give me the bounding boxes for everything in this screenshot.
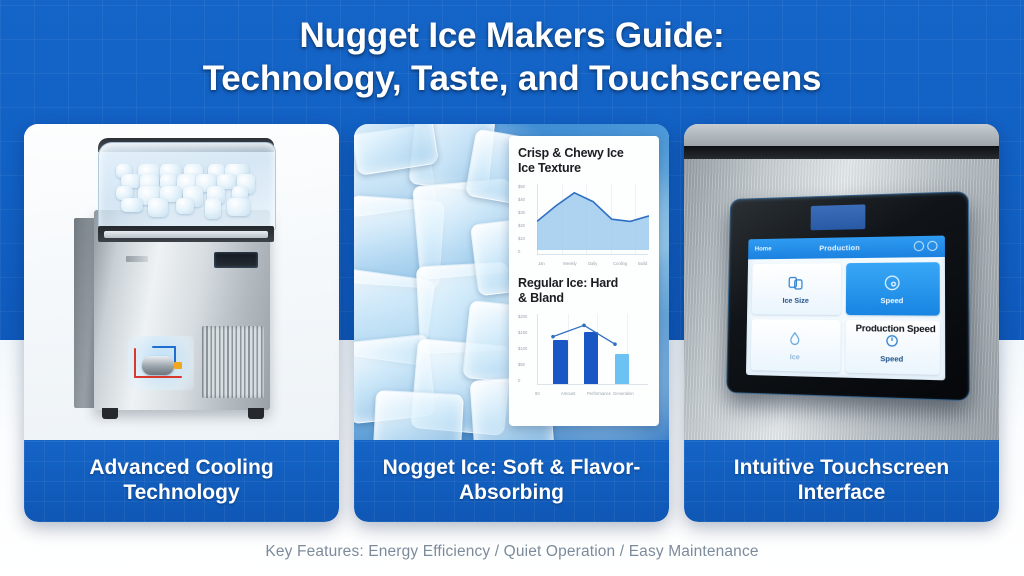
card-caption-touchscreen: Intuitive Touchscreen Interface bbox=[684, 440, 999, 522]
overlay-speed: Speed bbox=[852, 378, 934, 381]
x-tick-label: Amount bbox=[561, 391, 575, 396]
tile-label-speed-2: Speed bbox=[880, 354, 903, 364]
fan-dial-icon bbox=[882, 273, 902, 293]
ice-cube bbox=[148, 198, 168, 217]
tile-ice-size[interactable]: Ice Size bbox=[752, 263, 841, 315]
page-title-line-2: Technology, Taste, and Touchscreens bbox=[0, 57, 1024, 100]
poster-canvas: Nugget Ice Makers Guide: Technology, Tas… bbox=[0, 0, 1024, 576]
page-title-line-1: Nugget Ice Makers Guide: bbox=[299, 16, 724, 55]
card-caption-nugget-ice: Nogget Ice: Soft & Flavor-Absorbing bbox=[354, 440, 669, 522]
chart-heading-1: Crisp & Chewy Ice Ice Texture bbox=[518, 146, 650, 176]
hot-pipe-icon bbox=[134, 376, 182, 378]
ice-cube bbox=[372, 390, 464, 440]
condenser-vents bbox=[202, 326, 264, 398]
ice-cube-icon bbox=[786, 273, 805, 293]
tile-grid: Ice Size Speed Ice bbox=[751, 262, 940, 375]
y-tick-label: $50 bbox=[518, 362, 525, 367]
ice-maker-photo bbox=[24, 124, 339, 440]
x-tick-label: Generation bbox=[613, 391, 634, 396]
cold-pipe-top-icon bbox=[152, 346, 176, 348]
x-tick-label: Daily bbox=[588, 261, 597, 266]
chart-heading-2-line-2: & Bland bbox=[518, 291, 650, 306]
status-bar-title: Production bbox=[819, 243, 860, 253]
x-tick-label: Jan bbox=[538, 261, 545, 266]
y-tick-label: 0 bbox=[518, 249, 520, 254]
hot-pipe-riser-icon bbox=[134, 348, 136, 378]
tile-label-ice-size: Ice Size bbox=[782, 296, 808, 305]
card-advanced-cooling[interactable]: Advanced Cooling Technology bbox=[24, 124, 339, 522]
ice-maker-illustration bbox=[68, 138, 282, 430]
ice-cube bbox=[227, 198, 250, 216]
y-tick-label: $30 bbox=[518, 210, 525, 215]
ice-cube bbox=[205, 198, 221, 219]
chart-heading-1-line-1: Crisp & Chewy Ice bbox=[518, 146, 624, 160]
droplet-hand-icon bbox=[785, 329, 804, 349]
y-tick-label: $100 bbox=[518, 346, 527, 351]
footer-key-features: Key Features: Energy Efficiency / Quiet … bbox=[0, 543, 1024, 561]
page-title: Nugget Ice Makers Guide: Technology, Tas… bbox=[0, 14, 1024, 101]
chart-heading-2-line-1: Regular Ice: Hard bbox=[518, 276, 618, 290]
touchscreen-display[interactable]: Home Production Ice Size bbox=[746, 236, 945, 381]
brand-logo bbox=[126, 256, 148, 262]
chart-heading-1-line-2: Ice Texture bbox=[518, 161, 650, 176]
card-touchscreen[interactable]: Home Production Ice Size bbox=[684, 124, 999, 522]
machine-feet bbox=[98, 408, 274, 420]
y-tick-label: $40 bbox=[518, 197, 525, 202]
bar-chart: $200$150$100$50060AmountPerformanceGener… bbox=[518, 312, 650, 398]
touchscreen-bezel: Home Production Ice Size bbox=[726, 191, 970, 401]
chart-overlay-panel: Crisp & Chewy Ice Ice Texture $50$40$30$… bbox=[509, 136, 659, 426]
y-tick-label: $200 bbox=[518, 314, 527, 319]
machine-display bbox=[214, 252, 258, 268]
x-tick-label: Performance bbox=[587, 391, 611, 396]
power-icon bbox=[927, 241, 937, 251]
tile-label-speed: Speed bbox=[880, 296, 903, 305]
status-bar-icons bbox=[911, 241, 938, 253]
control-panel-photo: Home Production Ice Size bbox=[684, 124, 999, 440]
x-tick-label: 60 bbox=[535, 391, 540, 396]
ice-cube bbox=[176, 198, 194, 214]
ice-cube bbox=[121, 198, 143, 212]
control-strip bbox=[98, 226, 274, 242]
chart-heading-2: Regular Ice: Hard & Bland bbox=[518, 276, 650, 306]
x-tick-label: Build bbox=[638, 261, 647, 266]
y-tick-label: $10 bbox=[518, 236, 525, 241]
tile-speed-active[interactable]: Speed bbox=[845, 262, 939, 315]
valve-icon bbox=[174, 362, 182, 369]
y-tick-label: $150 bbox=[518, 330, 527, 335]
ice-cube-heap bbox=[112, 164, 262, 222]
status-bar: Home Production bbox=[748, 236, 945, 260]
bar-overlay-line bbox=[537, 314, 649, 380]
status-bar-left-label: Home bbox=[755, 246, 772, 253]
area-chart: $50$40$30$20$100JanWeeklyDailyCoolingBui… bbox=[518, 182, 650, 268]
tile-ice[interactable]: Ice bbox=[751, 319, 841, 372]
x-tick-label: Weekly bbox=[563, 261, 577, 266]
compressor-icon bbox=[142, 356, 174, 375]
x-tick-label: Cooling bbox=[613, 261, 627, 266]
card-nugget-ice[interactable]: Crisp & Chewy Ice Ice Texture $50$40$30$… bbox=[354, 124, 669, 522]
indicator-window bbox=[811, 204, 866, 230]
area-series bbox=[537, 184, 649, 250]
refrigeration-diagram bbox=[128, 336, 194, 390]
tile-label-ice: Ice bbox=[790, 352, 800, 361]
y-tick-label: $50 bbox=[518, 184, 525, 189]
card-caption-advanced-cooling: Advanced Cooling Technology bbox=[24, 440, 339, 522]
y-tick-label: $20 bbox=[518, 223, 525, 228]
droplet-icon bbox=[914, 241, 924, 251]
overlay-production-speed: Production Speed bbox=[841, 323, 946, 335]
y-tick-label: 0 bbox=[518, 378, 520, 383]
